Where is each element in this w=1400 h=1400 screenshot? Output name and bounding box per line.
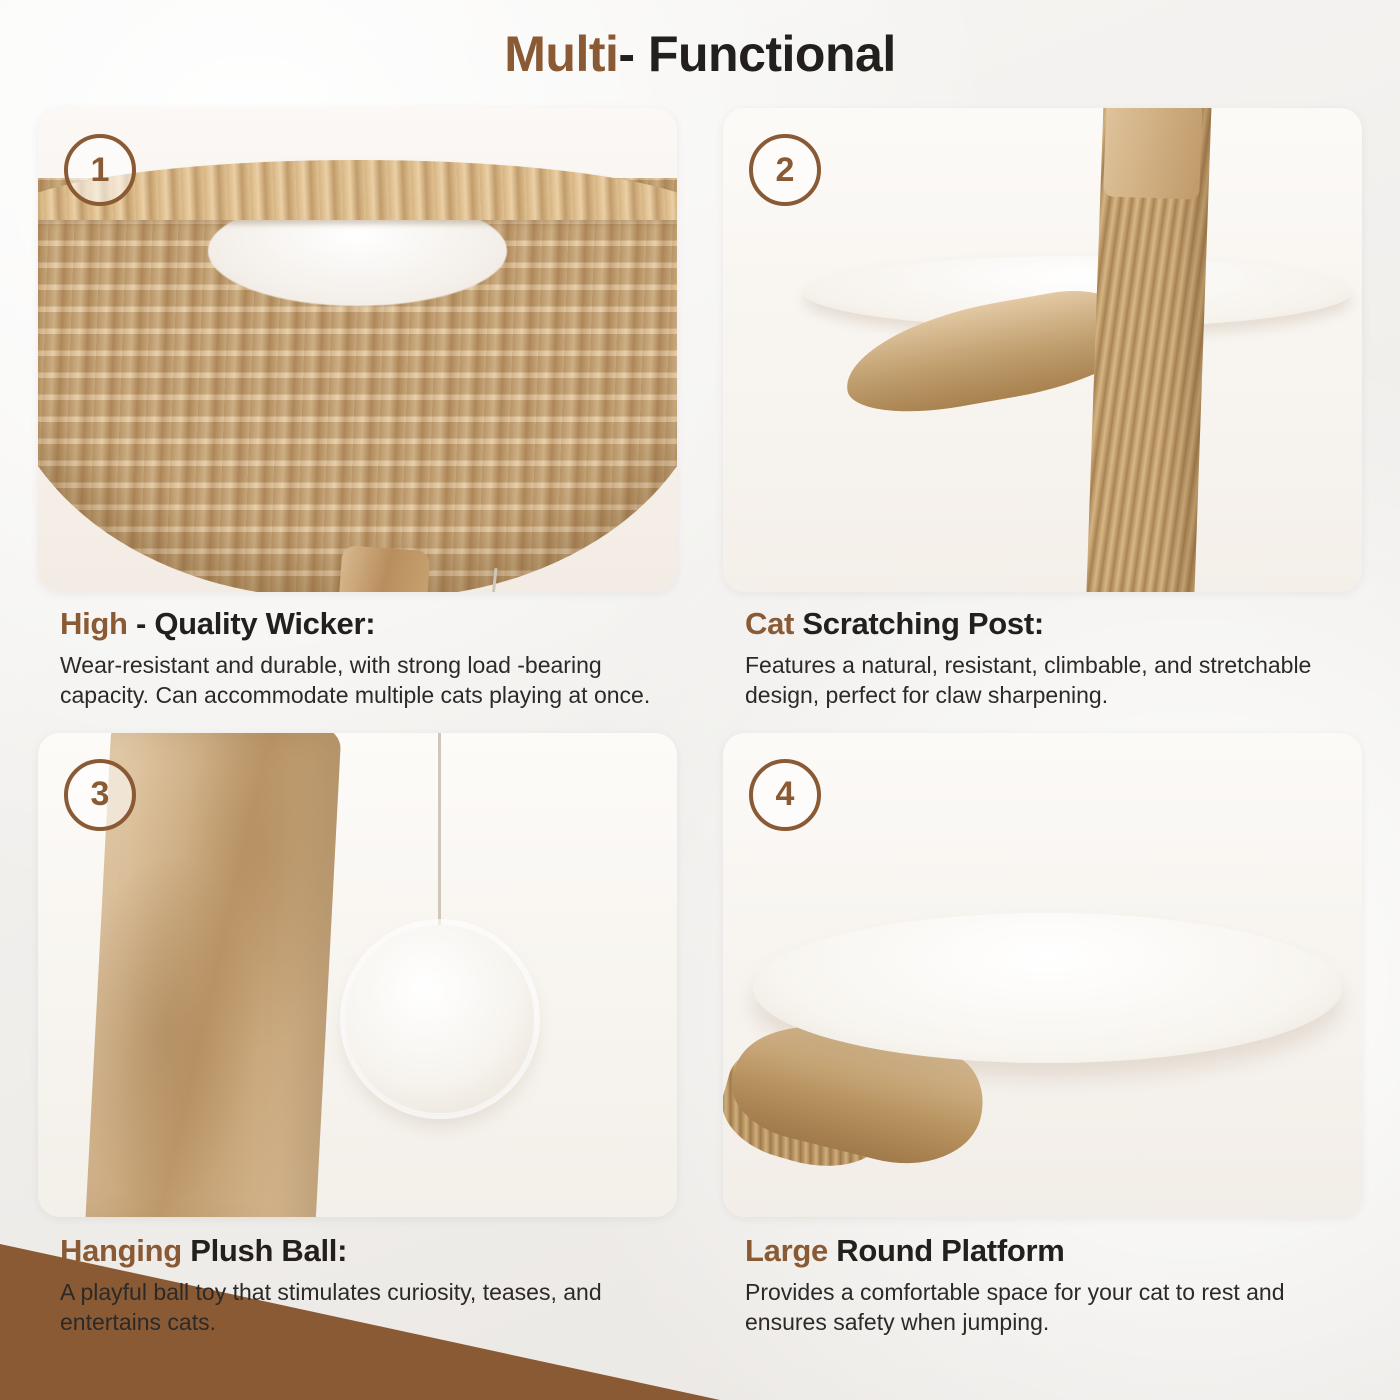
step-badge-4: 4	[749, 759, 821, 831]
step-badge-1: 1	[64, 134, 136, 206]
feature-image-3: 3	[38, 733, 677, 1217]
feature-body-1: Wear-resistant and durable, with strong …	[60, 650, 675, 711]
infographic-page: Multi - Functional 1 High - Quality Wick…	[0, 0, 1400, 1400]
feature-title-3-rest: Plush Ball:	[182, 1233, 347, 1268]
feature-card-2: 2 Cat Scratching Post: Features a natura…	[723, 108, 1362, 711]
page-title: Multi - Functional	[38, 0, 1362, 108]
feature-body-4: Provides a comfortable space for your ca…	[745, 1277, 1360, 1338]
feature-title-2: Cat Scratching Post:	[745, 606, 1360, 642]
feature-grid: 1 High - Quality Wicker: Wear-resistant …	[38, 108, 1362, 1337]
feature-title-3-accent: Hanging	[60, 1233, 182, 1268]
feature-title-4: Large Round Platform	[745, 1233, 1360, 1269]
feature-title-2-rest: Scratching Post:	[794, 606, 1044, 641]
feature-caption-2: Cat Scratching Post: Features a natural,…	[723, 592, 1362, 711]
feature-card-4: 4 Large Round Platform Provides a comfor…	[723, 733, 1362, 1338]
feature-card-3: 3 Hanging Plush Ball: A playful ball toy…	[38, 733, 677, 1338]
feature-title-4-rest: Round Platform	[828, 1233, 1065, 1268]
round-platform-shape	[753, 913, 1342, 1063]
feature-title-2-accent: Cat	[745, 606, 794, 641]
feature-image-2: 2	[723, 108, 1362, 592]
post-wood-top-shape	[1103, 108, 1203, 200]
feature-body-3: A playful ball toy that stimulates curio…	[60, 1277, 675, 1338]
step-badge-3: 3	[64, 759, 136, 831]
feature-caption-3: Hanging Plush Ball: A playful ball toy t…	[38, 1217, 677, 1338]
feature-image-4: 4	[723, 733, 1362, 1217]
feature-title-1-rest: - Quality Wicker:	[128, 606, 376, 641]
page-title-rest: - Functional	[618, 25, 895, 83]
feature-title-4-accent: Large	[745, 1233, 828, 1268]
feature-title-3: Hanging Plush Ball:	[60, 1233, 675, 1269]
ball-string-shape	[438, 733, 441, 953]
step-badge-2: 2	[749, 134, 821, 206]
feature-title-1-accent: High	[60, 606, 128, 641]
plush-ball-shape	[346, 925, 534, 1113]
page-title-accent: Multi	[504, 25, 618, 83]
wood-trunk-shape	[334, 545, 431, 592]
feature-image-1: 1	[38, 108, 677, 592]
feature-card-1: 1 High - Quality Wicker: Wear-resistant …	[38, 108, 677, 711]
feature-caption-4: Large Round Platform Provides a comforta…	[723, 1217, 1362, 1338]
feature-caption-1: High - Quality Wicker: Wear-resistant an…	[38, 592, 677, 711]
feature-body-2: Features a natural, resistant, climbable…	[745, 650, 1360, 711]
feature-title-1: High - Quality Wicker:	[60, 606, 675, 642]
